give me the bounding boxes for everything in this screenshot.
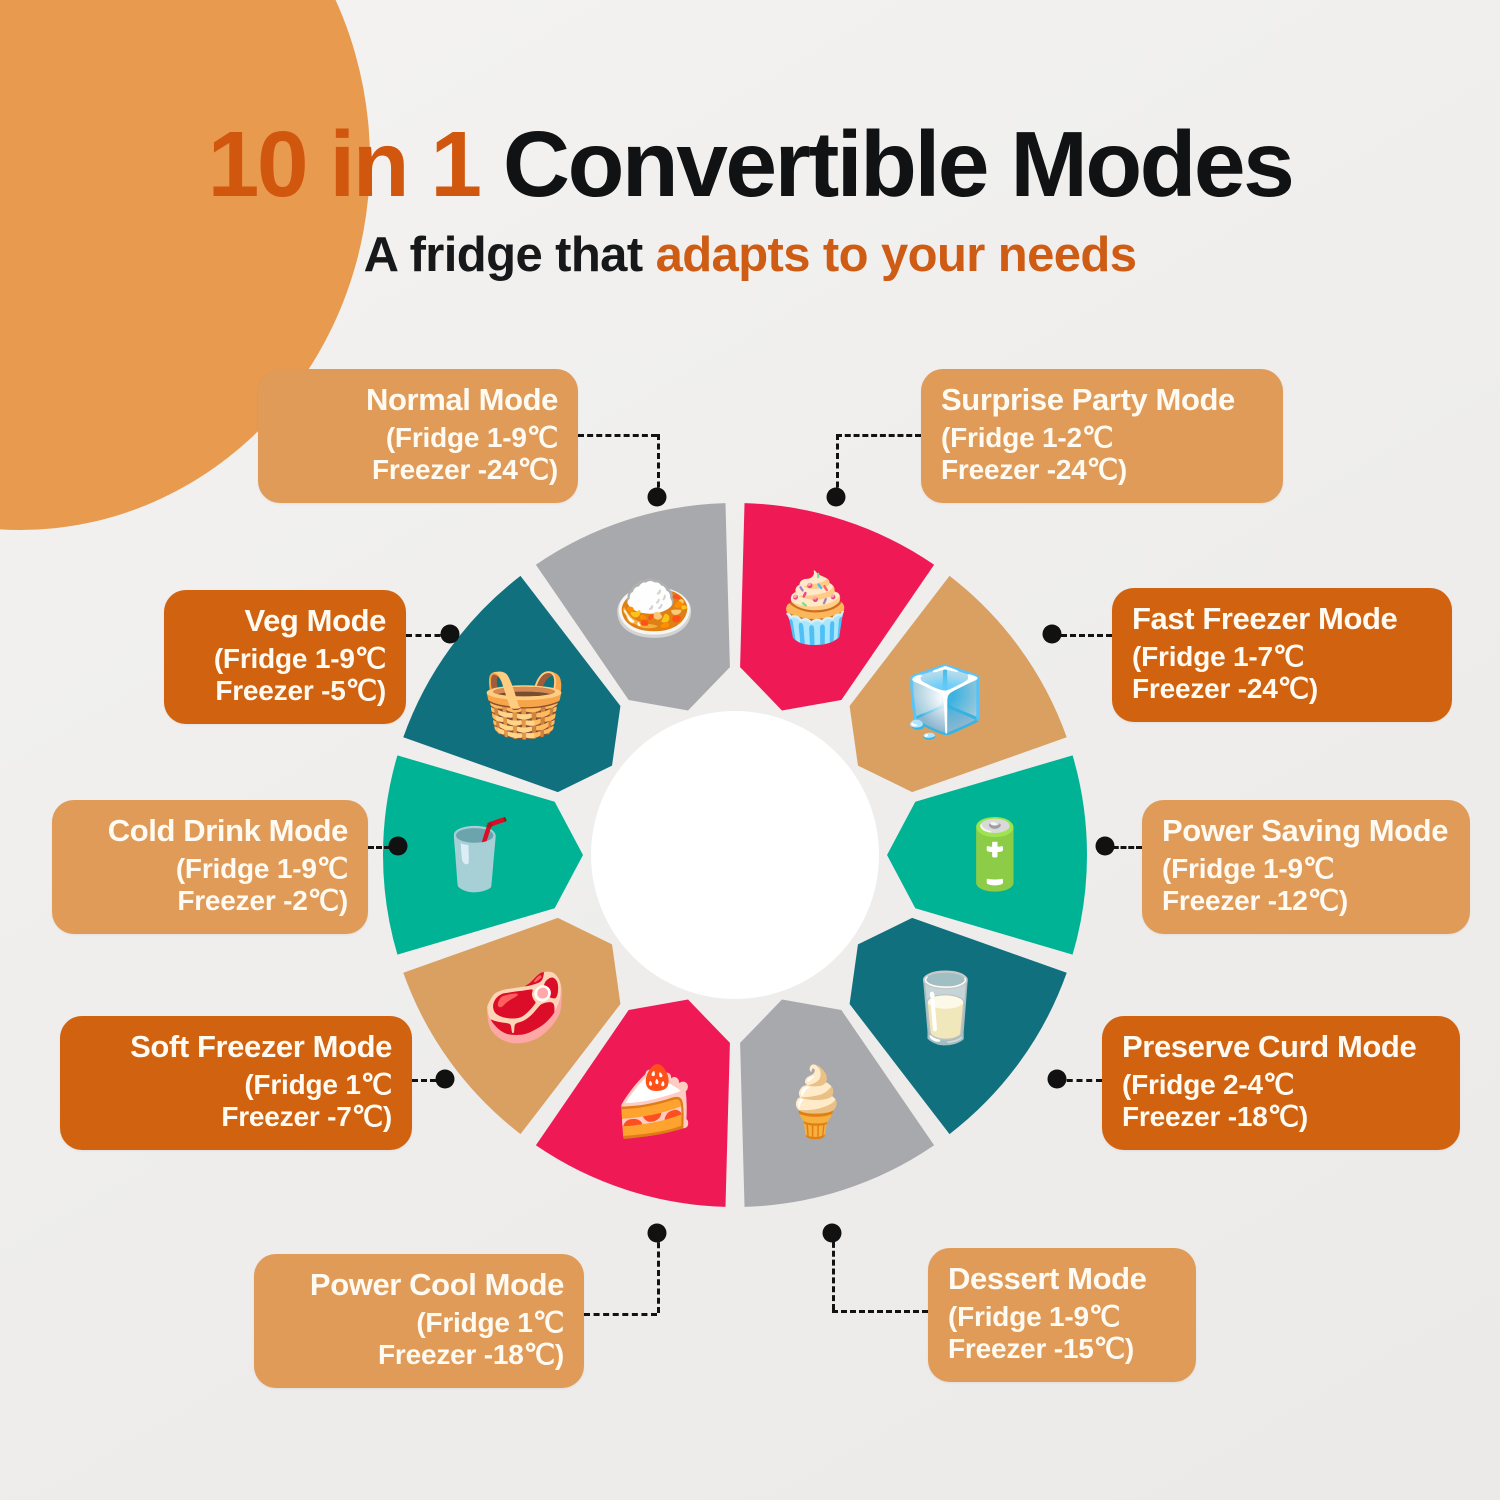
wheel-center-hub bbox=[591, 711, 879, 999]
mode-name-preserve-curd: Preserve Curd Mode bbox=[1122, 1030, 1440, 1065]
mode-temperatures-power-cool: (Fridge 1℃Freezer -18℃) bbox=[274, 1307, 564, 1371]
connector-vertical-dessert bbox=[832, 1233, 835, 1310]
mode-callout-power-saving[interactable]: Power Saving Mode(Fridge 1-9℃Freezer -12… bbox=[1142, 800, 1470, 934]
muffin-icon: 🧁 bbox=[767, 560, 863, 656]
mode-temperatures-veg: (Fridge 1-9℃Freezer -5℃) bbox=[184, 643, 386, 707]
mode-fridge-temp-surprise-party: (Fridge 1-2℃ bbox=[941, 422, 1263, 454]
mode-freezer-temp-surprise-party: Freezer -24℃) bbox=[941, 454, 1263, 486]
connector-horizontal-cold-drink bbox=[368, 846, 398, 849]
connector-horizontal-power-saving bbox=[1105, 846, 1142, 849]
page-title: 10 in 1 Convertible Modes bbox=[0, 118, 1500, 211]
mode-callout-normal[interactable]: Normal Mode(Fridge 1-9℃Freezer -24℃) bbox=[258, 369, 578, 503]
mode-fridge-temp-veg: (Fridge 1-9℃ bbox=[184, 643, 386, 675]
ice-cubes-icon: 🧊 bbox=[897, 654, 993, 750]
cake-slice-icon: 🍰 bbox=[607, 1054, 703, 1150]
mode-freezer-temp-fast-freezer: Freezer -24℃) bbox=[1132, 673, 1432, 705]
connector-horizontal-soft-freezer bbox=[412, 1079, 445, 1082]
mode-callout-surprise-party[interactable]: Surprise Party Mode(Fridge 1-2℃Freezer -… bbox=[921, 369, 1283, 503]
mode-name-dessert: Dessert Mode bbox=[948, 1262, 1176, 1297]
mode-fridge-temp-normal: (Fridge 1-9℃ bbox=[278, 422, 558, 454]
mode-temperatures-preserve-curd: (Fridge 2-4℃Freezer -18℃) bbox=[1122, 1069, 1440, 1133]
curry-bowl-icon: 🍛 bbox=[607, 560, 703, 656]
page-title-highlight: 10 in 1 bbox=[208, 112, 503, 216]
mode-temperatures-dessert: (Fridge 1-9℃Freezer -15℃) bbox=[948, 1301, 1176, 1365]
page-subtitle: A fridge that adapts to your needs bbox=[0, 231, 1500, 280]
connector-horizontal-normal bbox=[578, 434, 657, 437]
battery-icon: 🔋 bbox=[947, 807, 1043, 903]
vegetable-basket-icon: 🧺 bbox=[477, 654, 573, 750]
mode-callout-fast-freezer[interactable]: Fast Freezer Mode(Fridge 1-7℃Freezer -24… bbox=[1112, 588, 1452, 722]
cold-drink-icon: 🥤 bbox=[427, 807, 523, 903]
mode-freezer-temp-dessert: Freezer -15℃) bbox=[948, 1333, 1176, 1365]
mode-name-power-cool: Power Cool Mode bbox=[274, 1268, 564, 1303]
page-subtitle-highlight: adapts to your needs bbox=[656, 228, 1137, 282]
connector-horizontal-power-cool bbox=[584, 1313, 657, 1316]
connector-horizontal-surprise-party bbox=[836, 434, 921, 437]
connector-vertical-normal bbox=[657, 434, 660, 497]
mode-fridge-temp-soft-freezer: (Fridge 1℃ bbox=[80, 1069, 392, 1101]
mode-name-normal: Normal Mode bbox=[278, 383, 558, 418]
mode-name-soft-freezer: Soft Freezer Mode bbox=[80, 1030, 392, 1065]
mode-callout-cold-drink[interactable]: Cold Drink Mode(Fridge 1-9℃Freezer -2℃) bbox=[52, 800, 368, 934]
connector-vertical-surprise-party bbox=[836, 434, 839, 497]
mode-temperatures-cold-drink: (Fridge 1-9℃Freezer -2℃) bbox=[72, 853, 348, 917]
mode-temperatures-soft-freezer: (Fridge 1℃Freezer -7℃) bbox=[80, 1069, 392, 1133]
mode-callout-veg[interactable]: Veg Mode(Fridge 1-9℃Freezer -5℃) bbox=[164, 590, 406, 724]
mode-fridge-temp-cold-drink: (Fridge 1-9℃ bbox=[72, 853, 348, 885]
mode-freezer-temp-normal: Freezer -24℃) bbox=[278, 454, 558, 486]
mode-freezer-temp-cold-drink: Freezer -2℃) bbox=[72, 885, 348, 917]
mode-temperatures-surprise-party: (Fridge 1-2℃Freezer -24℃) bbox=[941, 422, 1263, 486]
mode-fridge-temp-power-cool: (Fridge 1℃ bbox=[274, 1307, 564, 1339]
mode-name-veg: Veg Mode bbox=[184, 604, 386, 639]
mode-freezer-temp-power-cool: Freezer -18℃) bbox=[274, 1339, 564, 1371]
header: 10 in 1 Convertible Modes A fridge that … bbox=[0, 118, 1500, 280]
page-title-rest: Convertible Modes bbox=[503, 112, 1292, 216]
connector-vertical-power-cool bbox=[657, 1233, 660, 1313]
mode-fridge-temp-dessert: (Fridge 1-9℃ bbox=[948, 1301, 1176, 1333]
mode-temperatures-fast-freezer: (Fridge 1-7℃Freezer -24℃) bbox=[1132, 641, 1432, 705]
mode-callout-soft-freezer[interactable]: Soft Freezer Mode(Fridge 1℃Freezer -7℃) bbox=[60, 1016, 412, 1150]
mode-freezer-temp-preserve-curd: Freezer -18℃) bbox=[1122, 1101, 1440, 1133]
mode-fridge-temp-power-saving: (Fridge 1-9℃ bbox=[1162, 853, 1450, 885]
mode-name-fast-freezer: Fast Freezer Mode bbox=[1132, 602, 1432, 637]
convertible-modes-wheel: 🍛🧁🧊🔋🥛🍦🍰🥩🥤🧺 bbox=[375, 495, 1095, 1215]
mode-callout-dessert[interactable]: Dessert Mode(Fridge 1-9℃Freezer -15℃) bbox=[928, 1248, 1196, 1382]
ice-cream-cone-icon: 🍦 bbox=[767, 1054, 863, 1150]
mode-callout-preserve-curd[interactable]: Preserve Curd Mode(Fridge 2-4℃Freezer -1… bbox=[1102, 1016, 1460, 1150]
connector-horizontal-preserve-curd bbox=[1057, 1079, 1102, 1082]
mode-fridge-temp-fast-freezer: (Fridge 1-7℃ bbox=[1132, 641, 1432, 673]
raw-meat-icon: 🥩 bbox=[477, 960, 573, 1056]
page-subtitle-dark: A fridge that bbox=[364, 228, 656, 282]
mode-name-power-saving: Power Saving Mode bbox=[1162, 814, 1450, 849]
connector-horizontal-dessert bbox=[832, 1310, 928, 1313]
mode-callout-power-cool[interactable]: Power Cool Mode(Fridge 1℃Freezer -18℃) bbox=[254, 1254, 584, 1388]
mode-fridge-temp-preserve-curd: (Fridge 2-4℃ bbox=[1122, 1069, 1440, 1101]
mode-name-cold-drink: Cold Drink Mode bbox=[72, 814, 348, 849]
curd-bowl-icon: 🥛 bbox=[897, 960, 993, 1056]
mode-freezer-temp-power-saving: Freezer -12℃) bbox=[1162, 885, 1450, 917]
mode-temperatures-power-saving: (Fridge 1-9℃Freezer -12℃) bbox=[1162, 853, 1450, 917]
connector-horizontal-veg bbox=[406, 634, 450, 637]
mode-freezer-temp-soft-freezer: Freezer -7℃) bbox=[80, 1101, 392, 1133]
mode-temperatures-normal: (Fridge 1-9℃Freezer -24℃) bbox=[278, 422, 558, 486]
mode-freezer-temp-veg: Freezer -5℃) bbox=[184, 675, 386, 707]
mode-name-surprise-party: Surprise Party Mode bbox=[941, 383, 1263, 418]
connector-horizontal-fast-freezer bbox=[1052, 634, 1112, 637]
